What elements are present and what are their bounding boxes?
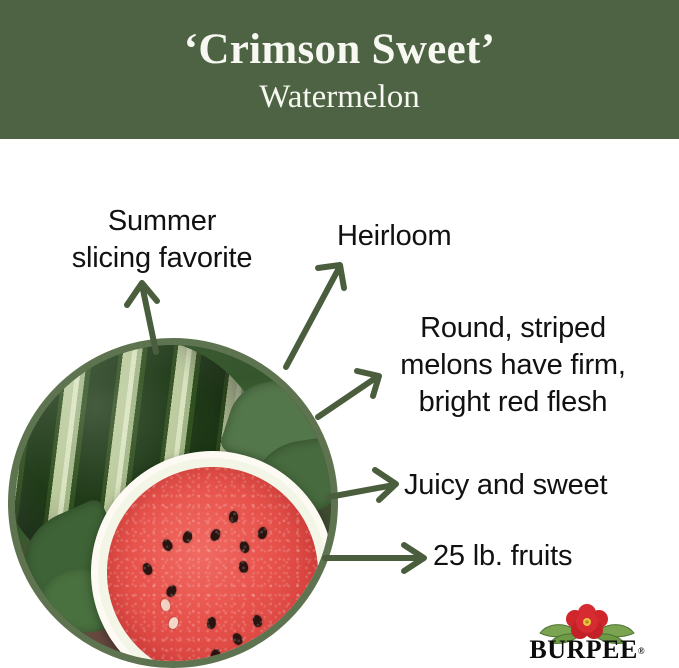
melon-seed	[165, 584, 179, 599]
melon-seed	[209, 528, 222, 543]
melon-seed	[206, 616, 217, 629]
melon-seed	[252, 614, 264, 628]
burpee-wordmark-text: BURPEE	[529, 635, 637, 664]
callout-fruit-size: 25 lb. fruits	[433, 538, 572, 575]
melon-seed	[160, 598, 172, 612]
arrow-head-summer	[127, 283, 157, 305]
melon-seed	[231, 632, 244, 647]
product-infographic: ‘Crimson Sweet’ Watermelon	[0, 0, 679, 668]
arrow-head-juicy	[375, 470, 396, 500]
watermelon-photo	[8, 338, 338, 668]
callout-juicy-and-sweet: Juicy and sweet	[404, 467, 607, 504]
arrow-to-juicy-and-sweet	[329, 485, 394, 497]
arrow-head-fruits	[404, 545, 424, 571]
melon-seed	[238, 540, 250, 554]
melon-seed	[167, 616, 180, 630]
melon-seed	[238, 560, 249, 573]
callout-summer-slicing-favorite: Summer slicing favorite	[52, 203, 272, 277]
photo-inner	[15, 345, 331, 661]
page-title: ‘Crimson Sweet’	[184, 27, 495, 72]
header-band: ‘Crimson Sweet’ Watermelon	[0, 0, 679, 139]
melon-seed	[209, 648, 221, 661]
callout-heirloom: Heirloom	[337, 218, 451, 255]
melon-seed	[161, 538, 175, 553]
melon-seed	[257, 526, 268, 540]
logo-flower	[566, 604, 608, 639]
arrow-head-round	[357, 371, 379, 396]
melon-seed	[141, 562, 154, 576]
page-subtitle: Watermelon	[259, 79, 419, 115]
melon-seed	[229, 511, 238, 523]
burpee-logo: BURPEE®	[512, 603, 662, 661]
arrow-head-heirloom	[318, 265, 344, 288]
registered-mark: ®	[638, 646, 645, 656]
melon-seed	[182, 530, 194, 544]
burpee-wordmark: BURPEE®	[512, 637, 662, 663]
callout-round-striped-melons: Round, striped melons have firm, bright …	[388, 310, 638, 421]
